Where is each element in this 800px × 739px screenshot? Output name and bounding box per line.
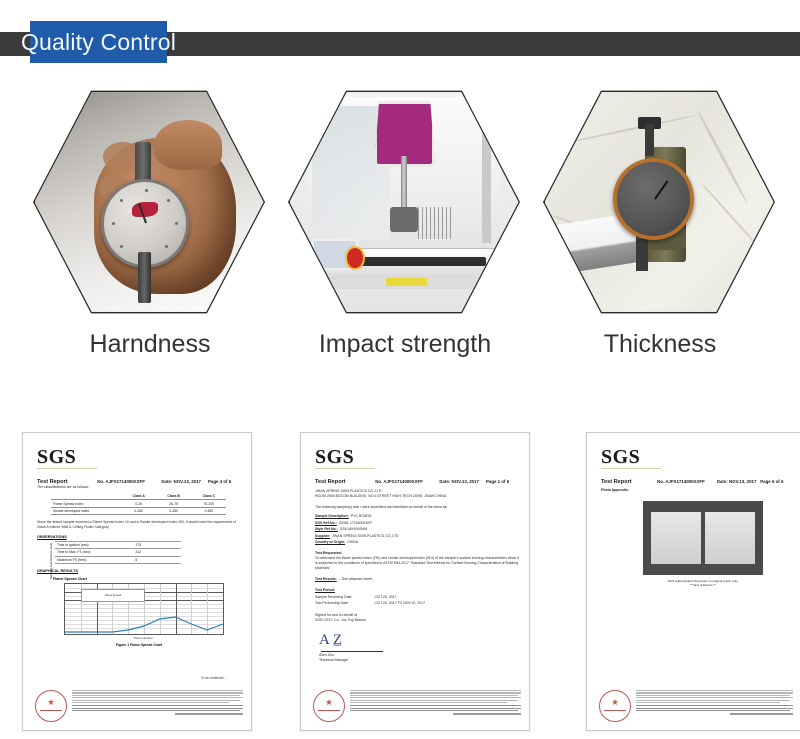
report-page: Page 4 of 6 bbox=[208, 479, 241, 484]
test-results-heading: Test Results: bbox=[315, 577, 337, 582]
red-seal-stamp bbox=[599, 690, 631, 722]
gauge-anvil bbox=[636, 239, 647, 271]
test-results-value: - See attached sheet - bbox=[340, 577, 374, 582]
sgs-logo: SGS bbox=[601, 447, 791, 467]
sample-receiving-date-label: Sample Receiving Date bbox=[315, 595, 373, 600]
footer-fine-print bbox=[350, 690, 521, 715]
observations-table: Time to ignition (sec): 175 Time to Max.… bbox=[55, 541, 181, 564]
sgs-report-page-4[interactable]: SGS Test Report No. AJFS1714000XXFF Date… bbox=[22, 432, 252, 731]
red-seal-stamp bbox=[35, 690, 67, 722]
impact-head bbox=[390, 207, 417, 232]
field-row: Supplier: JINAN SPRING SIGN PLASTICS CO.… bbox=[315, 534, 519, 539]
document-footer bbox=[599, 690, 793, 722]
field-label-country-of-origin: Country of Origin: bbox=[315, 540, 345, 545]
hexagon-photo-frame-thickness bbox=[543, 86, 775, 318]
report-date: Date: NOV.13, 2017 bbox=[161, 479, 208, 484]
cell: 0-450 bbox=[121, 507, 156, 514]
table-row: Smoke developed index 0-450 0-450 0-450 bbox=[51, 507, 226, 514]
report-date: Date: NOV.13, 2017 bbox=[439, 479, 486, 484]
test-performing-date-value: : OCT.26, 2017 TO NOV.10, 2017 bbox=[373, 601, 425, 606]
test-performing-date-label: Test Performing Date bbox=[315, 601, 373, 606]
test-period-heading: Test Period: bbox=[315, 588, 519, 593]
specimen-rack bbox=[418, 207, 455, 239]
test-results-row: Test Results: - See attached sheet - bbox=[315, 577, 519, 582]
durometer-hardness-tester-in-hand bbox=[35, 88, 264, 317]
signer-title: Technical Manager bbox=[319, 658, 519, 663]
obs-value: 175 bbox=[133, 542, 181, 549]
field-label-sample-description: Sample Description: bbox=[315, 514, 349, 519]
dial-tick bbox=[145, 189, 148, 192]
hexagon-photo-impact bbox=[290, 88, 519, 317]
row-label: Flame Spread Index bbox=[51, 500, 121, 507]
field-value-style-ref-no: GSK16X4000MM bbox=[340, 527, 367, 532]
marble-vein bbox=[557, 114, 696, 145]
obs-key: Time to ignition (sec): bbox=[55, 542, 133, 549]
sgs-report-page-1[interactable]: SGS Test Report No. AJFS1714000XXFF Date… bbox=[300, 432, 530, 731]
document-footer bbox=[313, 690, 521, 722]
legend-entry-flame-spread: Flame Spread bbox=[105, 594, 121, 597]
specimen-panel-left bbox=[651, 512, 701, 564]
obs-key: Maximum FS (feet): bbox=[55, 556, 133, 563]
cell: 0-450 bbox=[156, 507, 191, 514]
photo-caption-line-2: ** End of Report ** bbox=[627, 583, 779, 587]
cell: 26-75 bbox=[156, 500, 191, 507]
dial-tick bbox=[120, 199, 123, 202]
obs-value: 6 bbox=[133, 556, 181, 563]
page-title: Quality Control bbox=[21, 31, 176, 54]
caption-hardness: Harndness bbox=[25, 330, 275, 359]
table-row: Time to ignition (sec): 175 bbox=[55, 542, 181, 549]
table-header-row: Class A Class B Class C bbox=[51, 493, 226, 500]
machine-right-column bbox=[482, 110, 491, 243]
hexagon-photo-hardness bbox=[35, 88, 264, 317]
dial-brand-logo bbox=[132, 202, 158, 217]
table-row: Maximum FS (feet): 6 bbox=[55, 556, 181, 563]
test-card-thickness: Thickness bbox=[535, 86, 785, 386]
sample-receiving-date-value: : OCT.26, 2017 bbox=[373, 595, 397, 600]
dial-needle bbox=[654, 181, 668, 200]
field-value-sgs-ref-no: GEWL 1714000XXFF bbox=[339, 521, 373, 526]
field-row: Country of Origin: CHINA bbox=[315, 540, 519, 545]
caption-impact-strength: Impact strength bbox=[280, 330, 530, 359]
report-number: No. AJFS1714000XXFF bbox=[657, 479, 717, 484]
field-row: SGS Ref.No.: GEWL 1714000XXFF bbox=[315, 521, 519, 526]
thickness-gauge-dial bbox=[613, 158, 694, 239]
hexagon-photo-frame-impact bbox=[288, 86, 520, 318]
cell: 0-25 bbox=[121, 500, 156, 507]
test-card-impact-strength: Impact strength bbox=[280, 86, 530, 386]
specimen-panel-right bbox=[705, 512, 755, 564]
dial-tick bbox=[112, 222, 115, 225]
col-blank bbox=[51, 493, 121, 500]
certificate-row: SGS Test Report No. AJFS1714000XXFF Date… bbox=[0, 432, 800, 739]
period-row: Sample Receiving Date : OCT.26, 2017 bbox=[315, 595, 519, 600]
impact-strength-testing-machine bbox=[290, 88, 519, 317]
table-row: Time to Max. FS (sec): 312 bbox=[55, 549, 181, 556]
submission-lead-text: The following sample(s) was / were submi… bbox=[315, 505, 519, 510]
sgs-logo-underline bbox=[601, 468, 661, 469]
footer-fine-print bbox=[72, 690, 243, 715]
report-header-row: Test Report No. AJFS1714000XXFF Date: NO… bbox=[315, 479, 519, 485]
chart-y-axis-label: Flame Spread Distance (feet) bbox=[49, 539, 53, 583]
cell: 76-200 bbox=[191, 500, 226, 507]
pendulum-arm bbox=[401, 156, 408, 211]
figure-caption: Figure 1 Flame Spread Chart bbox=[53, 643, 225, 647]
photo-caption: SGS authenticates the photo on original … bbox=[627, 579, 779, 588]
page-header: Quality Control bbox=[0, 0, 800, 80]
graphical-results-heading: GRAPHICAL RESULTS bbox=[37, 569, 241, 573]
report-title: Test Report bbox=[601, 479, 657, 485]
specimen-photo bbox=[643, 501, 763, 575]
field-row: Style Ref.No.: GSK16X4000MM bbox=[315, 527, 519, 532]
report-number: No. AJFS1714000XXFF bbox=[375, 479, 439, 484]
report-title: Test Report bbox=[315, 479, 375, 485]
test-photo-row: Harndness bbox=[0, 86, 800, 386]
thumb-shape bbox=[154, 120, 223, 170]
marble-vein bbox=[697, 110, 749, 204]
field-row: Sample Description: PVC BOARD bbox=[315, 514, 519, 519]
signed-org-text: SGS-CSTC Co., Ltd. Fuji Branch bbox=[315, 618, 519, 623]
obs-key: Time to Max. FS (sec): bbox=[55, 549, 133, 556]
caption-thickness: Thickness bbox=[535, 330, 785, 359]
handwritten-signature: A Z̲ bbox=[319, 633, 342, 647]
hexagon-photo-frame-hardness bbox=[33, 86, 265, 318]
to-be-continued-note: To be continued ... bbox=[201, 676, 227, 680]
field-value-sample-description: PVC BOARD bbox=[351, 514, 372, 519]
document-footer bbox=[35, 690, 243, 722]
col-class-c: Class C bbox=[191, 493, 226, 500]
gauge-post bbox=[645, 124, 654, 156]
field-label-supplier: Supplier: bbox=[315, 534, 330, 539]
report-date: Date: NOV.13, 2017 bbox=[717, 479, 760, 484]
field-value-supplier: JINAN SPRING SIGN PLASTICS CO.,LTD bbox=[332, 534, 398, 539]
field-value-country-of-origin: CHINA bbox=[347, 540, 358, 545]
report-header-row: Test Report No. AJFS1714000XXFF Date: NO… bbox=[601, 479, 791, 485]
sgs-logo: SGS bbox=[37, 447, 241, 467]
period-row: Test Performing Date : OCT.26, 2017 TO N… bbox=[315, 601, 519, 606]
report-page: Page 6 of 6 bbox=[760, 479, 791, 484]
report-page: Page 1 of 6 bbox=[486, 479, 519, 484]
col-class-b: Class B bbox=[156, 493, 191, 500]
dial-tick bbox=[165, 245, 168, 248]
field-label-style-ref-no: Style Ref.No.: bbox=[315, 527, 338, 532]
thickness-gauge-on-marble bbox=[545, 88, 774, 317]
chart-legend: Flame Spread bbox=[81, 589, 145, 602]
sgs-logo: SGS bbox=[315, 447, 519, 467]
test-card-hardness: Harndness bbox=[25, 86, 275, 386]
observations-heading: OBSERVATIONS bbox=[37, 535, 241, 539]
cell: 0-450 bbox=[191, 507, 226, 514]
test-requested-text: To determine the flame spread index (FSI… bbox=[315, 556, 519, 571]
footer-fine-print bbox=[636, 690, 793, 715]
sgs-report-page-6[interactable]: SGS Test Report No. AJFS1714000XXFF Date… bbox=[586, 432, 800, 731]
chart-title: Flame Spread Chart bbox=[53, 577, 225, 581]
client-address: ROOM 2505 BOCOM BUILDING, NO.6 STREET HI… bbox=[315, 494, 519, 499]
conclusion-text: Since the tested sample received a Flame… bbox=[37, 520, 241, 530]
dial-tick bbox=[167, 199, 170, 202]
red-seal-stamp bbox=[313, 690, 345, 722]
hexagon-photo-thickness bbox=[545, 88, 774, 317]
sgs-logo-underline bbox=[37, 468, 97, 469]
sgs-logo-underline bbox=[315, 468, 375, 469]
row-label: Smoke developed index bbox=[51, 507, 121, 514]
classification-intro: The classifications are as follows: bbox=[37, 485, 241, 490]
dial-tick bbox=[120, 245, 123, 248]
quality-control-title-box: Quality Control bbox=[30, 21, 167, 63]
photo-appendix-heading: Photo Appendix: bbox=[601, 488, 791, 493]
table-row: Flame Spread Index 0-25 26-75 76-200 bbox=[51, 500, 226, 507]
flame-spread-chart: Flame Spread Chart Flame Spread Distance… bbox=[53, 577, 225, 641]
classification-table: Class A Class B Class C Flame Spread Ind… bbox=[51, 493, 226, 515]
signature-area: A Z̲ Allen Zhu Technical Manager bbox=[319, 631, 519, 664]
report-number: No. AJFS1714000XXFF bbox=[97, 479, 161, 484]
signature-line bbox=[321, 651, 383, 652]
emergency-stop-button bbox=[347, 248, 363, 269]
chart-plot-area: Flame Spread bbox=[64, 583, 224, 635]
obs-value: 312 bbox=[133, 549, 181, 556]
chart-x-axis-label: Time (minutes) bbox=[64, 636, 222, 640]
field-label-sgs-ref-no: SGS Ref.No.: bbox=[315, 521, 337, 526]
durometer-foot bbox=[138, 252, 152, 302]
dial-tick bbox=[175, 222, 178, 225]
col-class-a: Class A bbox=[121, 493, 156, 500]
yellow-marker-strip bbox=[386, 278, 427, 286]
